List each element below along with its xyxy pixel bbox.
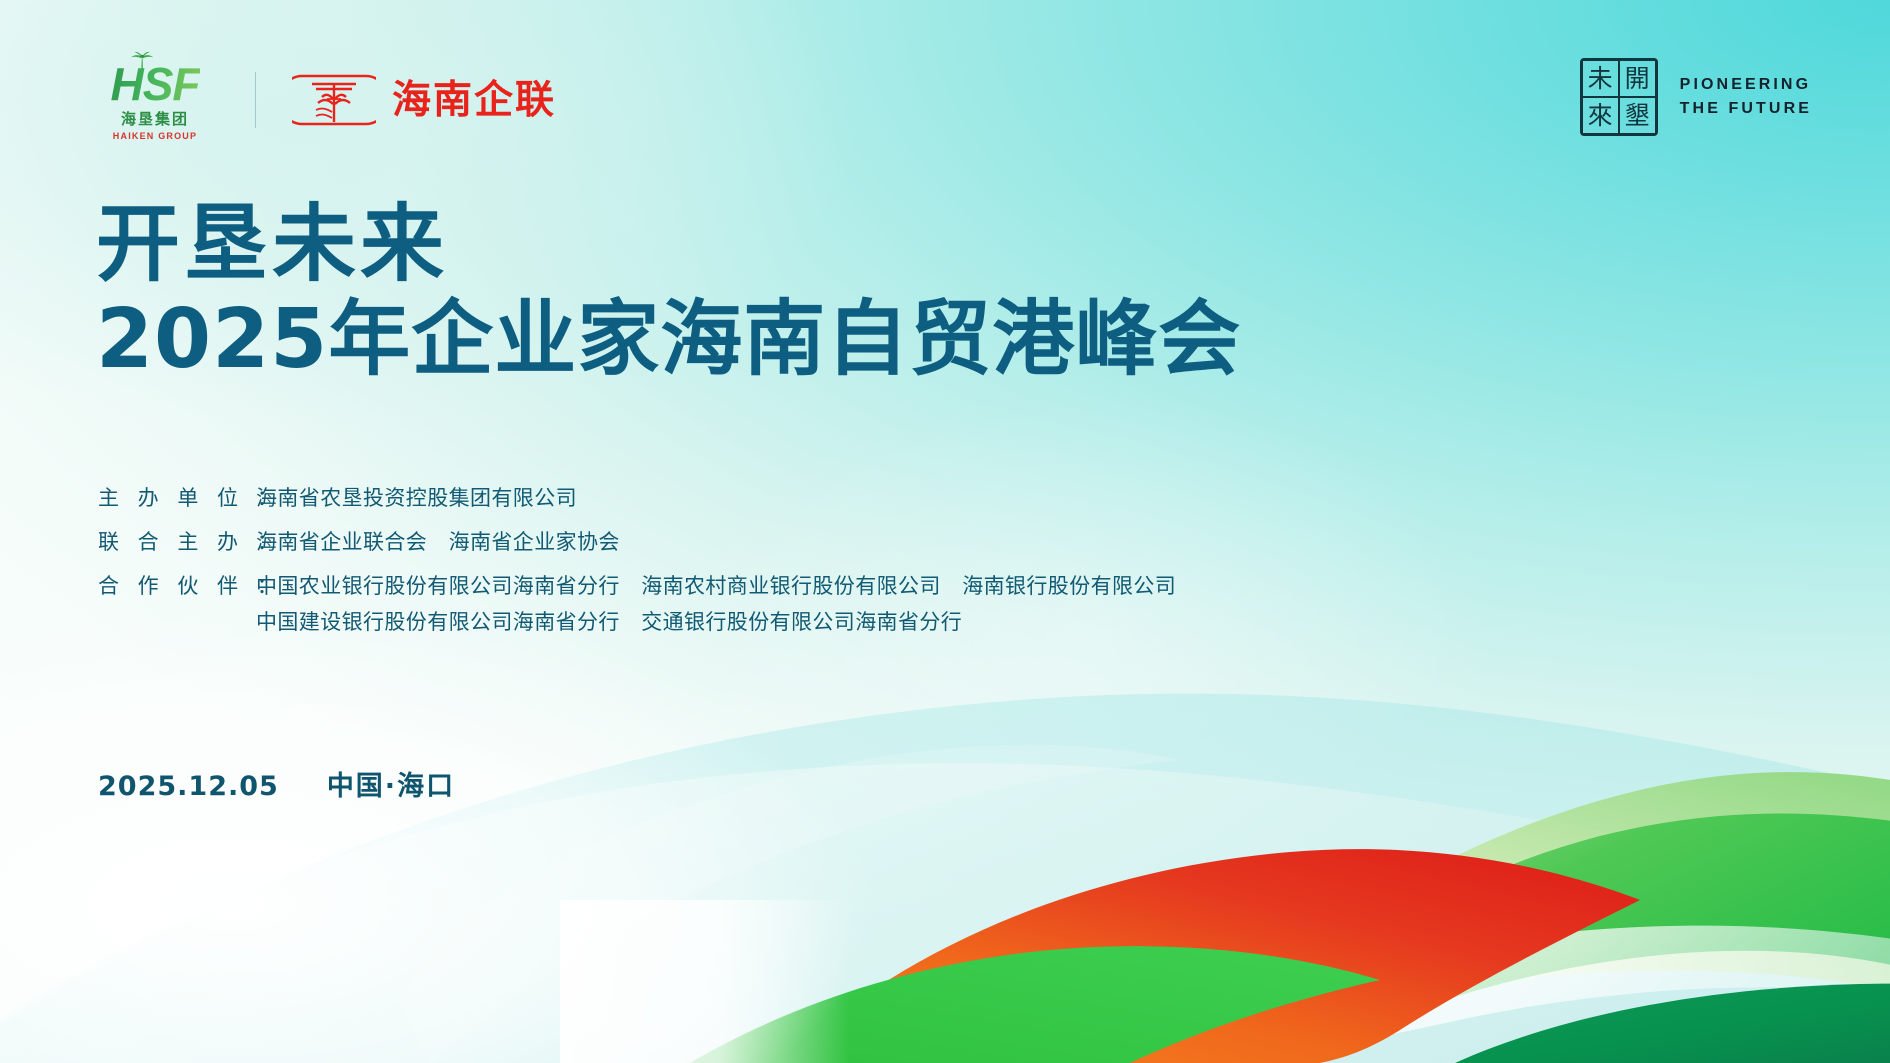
future-seal-icon: 未 開 來 墾 [1580,58,1658,136]
tagline-line-2: THE FUTURE [1680,100,1812,118]
brand-tagline: PIONEERING THE FUTURE [1680,76,1812,118]
seal-char-ken: 墾 [1619,97,1656,134]
info-label-coorganizer: 联 合 主 办 ： [98,532,256,553]
info-row-coorganizer: 联 合 主 办 ： 海南省企业联合会 海南省企业家协会 [98,532,1176,553]
info-value-line: 海南省企业联合会 海南省企业家协会 [256,532,620,553]
info-value-coorganizer: 海南省企业联合会 海南省企业家协会 [256,532,620,553]
hainan-qilian-text: 海南企联 [392,81,556,120]
info-value-line: 海南省农垦投资控股集团有限公司 [256,488,577,509]
seal-char-lai: 來 [1582,97,1619,134]
hainan-qilian-logo: 海南企联 [292,72,556,128]
info-value-host: 海南省农垦投资控股集团有限公司 [256,488,577,509]
tagline-line-1: PIONEERING [1680,76,1812,94]
info-label-host: 主 办 单 位 ： [98,488,256,509]
event-poster: HSF 海垦集团 HAIKEN GROUP [0,0,1890,1063]
title-main: 开垦未来 [96,200,1241,288]
haiken-en-name: HAIKEN GROUP [113,131,197,141]
organizer-info-block: 主 办 单 位 ： 海南省农垦投资控股集团有限公司 联 合 主 办 ： 海南省企… [98,488,1176,656]
palm-tree-icon [129,51,155,71]
info-value-line: 中国农业银行股份有限公司海南省分行 海南农村商业银行股份有限公司 海南银行股份有… [256,576,1176,597]
hainan-qilian-seal-icon [292,72,376,128]
event-location: 中国·海口 [327,764,455,803]
seal-char-kai: 開 [1619,60,1656,97]
info-value-line: 中国建设银行股份有限公司海南省分行 交通银行股份有限公司海南省分行 [256,612,1176,633]
poster-title-block: 开垦未来 2025年企业家海南自贸港峰会 [96,200,1241,386]
header-logo-row: HSF 海垦集团 HAIKEN GROUP [95,60,556,140]
haiken-group-logo: HSF 海垦集团 HAIKEN GROUP [95,61,215,139]
pioneering-brand-mark: 未 開 來 墾 PIONEERING THE FUTURE [1580,58,1812,136]
haiken-cn-name: 海垦集团 [121,108,189,129]
info-label-partners: 合 作 伙 伴 ： [98,576,256,597]
event-date-location: 2025.12.05 中国·海口 [98,764,455,803]
info-row-host: 主 办 单 位 ： 海南省农垦投资控股集团有限公司 [98,488,1176,509]
info-value-partners: 中国农业银行股份有限公司海南省分行 海南农村商业银行股份有限公司 海南银行股份有… [256,576,1176,633]
seal-char-wei: 未 [1582,60,1619,97]
info-row-partners: 合 作 伙 伴 ： 中国农业银行股份有限公司海南省分行 海南农村商业银行股份有限… [98,576,1176,633]
event-date: 2025.12.05 [98,771,279,802]
logo-divider [255,72,256,128]
title-sub: 2025年企业家海南自贸港峰会 [96,294,1241,386]
hsf-wordmark: HSF [111,61,200,107]
